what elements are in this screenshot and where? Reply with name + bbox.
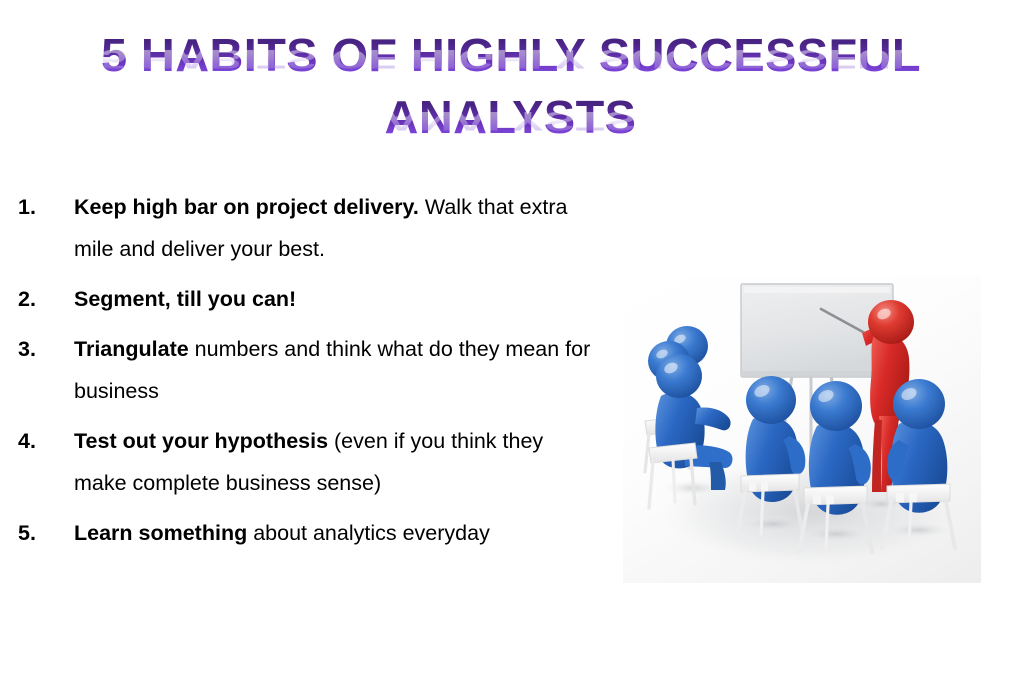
list-item-number: 5. bbox=[18, 512, 36, 554]
list-item-lead: Triangulate bbox=[74, 337, 189, 361]
audience-head bbox=[893, 379, 945, 429]
list-item: 3. Triangulate numbers and think what do… bbox=[0, 328, 600, 412]
classroom-training-image bbox=[623, 276, 981, 583]
title-line-2-wrap: ANALYSTS ANALYSTS bbox=[0, 92, 1021, 154]
list-item-number: 1. bbox=[18, 186, 36, 228]
title-line-1-wrap: 5 HABITS OF HIGHLY SUCCESSFUL 5 HABITS O… bbox=[0, 30, 1021, 92]
list-item: 4. Test out your hypothesis (even if you… bbox=[0, 420, 600, 504]
list-item-lead: Learn something bbox=[74, 521, 247, 545]
list-item: 1. Keep high bar on project delivery. Wa… bbox=[0, 186, 600, 270]
audience-head bbox=[656, 354, 702, 398]
list-item-lead: Keep high bar on project delivery. bbox=[74, 195, 419, 219]
title-line-1: 5 HABITS OF HIGHLY SUCCESSFUL bbox=[100, 30, 920, 80]
title-line-2: ANALYSTS bbox=[385, 92, 637, 142]
list-item-lead: Segment, till you can! bbox=[74, 287, 296, 311]
list-item-lead: Test out your hypothesis bbox=[74, 429, 328, 453]
list-item-number: 3. bbox=[18, 328, 36, 370]
list-item-number: 4. bbox=[18, 420, 36, 462]
audience-left-group bbox=[645, 326, 732, 508]
list-item-number: 2. bbox=[18, 278, 36, 320]
slide-title: 5 HABITS OF HIGHLY SUCCESSFUL 5 HABITS O… bbox=[0, 30, 1021, 154]
audience-head bbox=[810, 381, 862, 431]
list-item-rest: about analytics everyday bbox=[247, 521, 490, 545]
list-item: 5. Learn something about analytics every… bbox=[0, 512, 600, 554]
presenter-head bbox=[868, 300, 914, 344]
list-item: 2. Segment, till you can! bbox=[0, 278, 600, 320]
audience-head bbox=[746, 376, 796, 424]
audience-front-row bbox=[737, 376, 957, 552]
habits-list: 1. Keep high bar on project delivery. Wa… bbox=[0, 186, 600, 562]
